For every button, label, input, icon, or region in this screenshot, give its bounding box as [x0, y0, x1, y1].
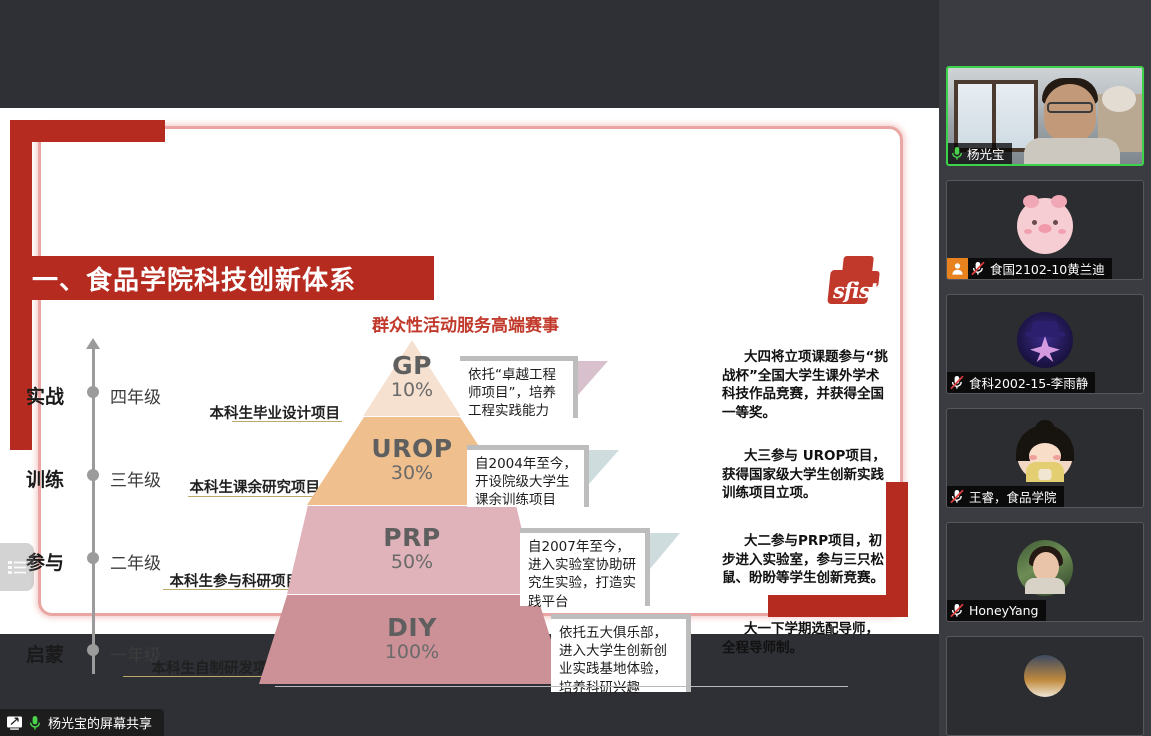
participant-name-2: 食科2002-15-李雨静 [969, 373, 1088, 392]
project-label-2: 本科生参与科研项目 [40, 570, 300, 591]
pyramid-tier-diy-pct: 100% [385, 641, 439, 665]
pyramid-tier-urop-pct: 30% [391, 462, 433, 486]
microphone-icon [951, 146, 963, 161]
callout-2-wedge [650, 533, 680, 569]
participant-name-1: 食国2102-10黄兰迪 [990, 259, 1105, 278]
callout-1-wedge [589, 450, 619, 484]
outcome-3: 大一下学期选配导师，全程导师制。 [722, 620, 890, 657]
participant-tile-3[interactable]: 王睿，食品学院 [946, 408, 1144, 508]
slide-title-bar: 一、食品学院科技创新体系 [18, 256, 434, 300]
participant-namebar-4: HoneyYang [947, 600, 1046, 621]
shared-screen-stage[interactable]: 一、食品学院科技创新体系 sfist 群众性活动服务高端赛事 实战 训练 参与 … [0, 0, 939, 736]
outcome-1: 大三参与 UROP项目，获得国家级大学生创新实践训练项目立项。 [722, 447, 890, 503]
participant-namebar-1: 食国2102-10黄兰迪 [968, 258, 1112, 279]
participant-namebar-3: 王睿，食品学院 [947, 486, 1064, 507]
pyramid-tier-diy-abbr: DIY [387, 615, 437, 641]
microphone-muted-icon [950, 489, 965, 504]
outcome-2: 大二参与PRP项目，初步进入实验室，参与三只松鼠、盼盼等学生创新竞赛。 [722, 532, 894, 588]
list-panel-icon[interactable] [0, 543, 34, 591]
microphone-muted-icon [971, 261, 986, 276]
slide-corner-accent-top-left [10, 120, 165, 142]
callout-2-text: 自2007年至今，进入实验室协助研究生实验，打造实践平台 [528, 538, 639, 611]
screen-share-icon [6, 715, 23, 731]
project-label-1: 本科生课余研究项目 [60, 476, 320, 497]
callout-2[interactable]: 自2007年至今，进入实验室协助研究生实验，打造实践平台 [520, 528, 650, 606]
participant-name-3: 王睿，食品学院 [969, 487, 1057, 506]
project-label-3: 本科生自制研发项目 [22, 657, 282, 678]
participant-tile-5[interactable] [946, 636, 1144, 736]
pyramid-tier-prp-abbr: PRP [383, 525, 440, 551]
pig-avatar [1017, 198, 1073, 254]
pyramid-tier-gp-pct: 10% [391, 379, 433, 403]
star-avatar [1017, 312, 1073, 368]
outcome-0: 大四将立项课题参与“挑战杯”全国大学生课外学术科技作品竞赛，并获得全国一等奖。 [722, 348, 890, 423]
photo-avatar [1017, 540, 1073, 596]
slide-kicker: 群众性活动服务高端赛事 [372, 311, 559, 336]
callout-0[interactable]: 依托“卓越工程师项目”，培养工程实践能力 [460, 356, 578, 418]
participant-tile-1[interactable]: 食国2102-10黄兰迪 [946, 180, 1144, 280]
zoom-meeting-screen: 一、食品学院科技创新体系 sfist 群众性活动服务高端赛事 实战 训练 参与 … [0, 0, 1151, 736]
pyramid-tier-prp-pct: 50% [391, 551, 433, 575]
stage-label-1: 训练 [26, 465, 64, 492]
participant-tile-2[interactable]: 食科2002-15-李雨静 [946, 294, 1144, 394]
project-rule-2 [163, 589, 303, 590]
participant-namebar-2: 食科2002-15-李雨静 [947, 372, 1095, 393]
participant-namebar-0: 杨光宝 [948, 143, 1012, 164]
axis-node-4 [87, 386, 99, 398]
pyramid-tier-gp-abbr: GP [392, 353, 432, 379]
sfist-logo-icon: sfist [827, 256, 885, 312]
microphone-muted-icon [950, 603, 965, 618]
sfist-logo-text: sfist [833, 278, 881, 303]
callout-1-text: 自2004年至今，开设院级大学生课余训练项目 [475, 455, 578, 510]
host-badge-icon [947, 258, 968, 279]
participants-rail[interactable]: 杨光宝 [939, 0, 1151, 736]
participant-name-4: HoneyYang [969, 603, 1039, 618]
callout-0-wedge [578, 361, 608, 395]
axis-node-2 [87, 552, 99, 564]
callout-0-text: 依托“卓越工程师项目”，培养工程实践能力 [468, 366, 567, 421]
girl-avatar [1017, 426, 1073, 482]
callout-3[interactable]: 依托五大俱乐部，进入大学生创新创业实践基地体验，培养科研兴趣 [551, 614, 691, 692]
baseline-rule [275, 686, 848, 687]
axis-node-1 [87, 644, 99, 656]
presentation-slide: 一、食品学院科技创新体系 sfist 群众性活动服务高端赛事 实战 训练 参与 … [0, 108, 939, 634]
pyramid-tier-diy[interactable]: DIY 100% [259, 595, 565, 684]
callout-1[interactable]: 自2004年至今，开设院级大学生课余训练项目 [467, 445, 589, 507]
stage-label-0: 实战 [26, 382, 64, 409]
pyramid-tier-prp[interactable]: PRP 50% [287, 506, 537, 594]
slide-title: 一、食品学院科技创新体系 [18, 260, 356, 297]
partial-avatar [1024, 655, 1066, 697]
participant-tile-0[interactable]: 杨光宝 [946, 66, 1144, 166]
screen-share-status-bar: 杨光宝的屏幕共享 [0, 709, 164, 736]
participant-tile-4[interactable]: HoneyYang [946, 522, 1144, 622]
microphone-muted-icon [950, 375, 965, 390]
microphone-icon [29, 715, 41, 731]
screen-share-status-label: 杨光宝的屏幕共享 [48, 713, 152, 732]
pyramid-tier-urop-abbr: UROP [371, 436, 452, 462]
participant-name-0: 杨光宝 [967, 144, 1005, 163]
